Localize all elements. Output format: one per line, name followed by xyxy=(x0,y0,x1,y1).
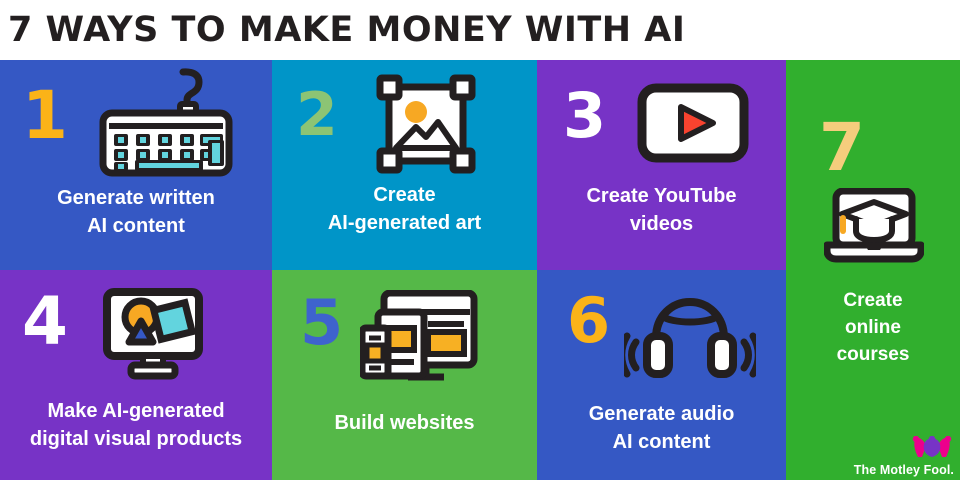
responsive-devices-icon xyxy=(360,290,480,387)
card-label-5: Build websites xyxy=(272,410,537,438)
laptop-graduation-cap-icon xyxy=(824,188,924,271)
infographic-root: 7 Ways to Make Money With AI 1 xyxy=(0,0,960,480)
card-number-4: 4 xyxy=(22,289,68,355)
card-2-create-ai-generated-art[interactable]: 2 Create AI-generated art xyxy=(272,60,537,270)
card-label-6: Generate audio AI content xyxy=(537,401,786,456)
keyboard-icon xyxy=(95,68,235,185)
card-3-create-youtube-videos[interactable]: 3 Create YouTube videos xyxy=(537,60,786,270)
video-play-icon xyxy=(637,83,749,168)
card-label-4: Make AI-generated digital visual product… xyxy=(0,398,272,453)
card-number-7: 7 xyxy=(819,115,865,181)
image-art-icon xyxy=(376,74,476,179)
card-label-3: Create YouTube videos xyxy=(537,183,786,238)
cards-grid: 1 xyxy=(0,60,960,480)
motley-fool-logo: The Motley Fool. xyxy=(854,436,954,477)
card-number-3: 3 xyxy=(563,85,606,147)
header: 7 Ways to Make Money With AI xyxy=(0,0,960,60)
motley-fool-wordmark: The Motley Fool. xyxy=(854,464,954,477)
card-6-generate-audio-ai-content[interactable]: 6 xyxy=(537,270,786,480)
jester-hat-icon xyxy=(910,436,954,463)
card-number-5: 5 xyxy=(300,292,343,354)
card-label-7: Create online courses xyxy=(786,288,960,369)
card-label-2: Create AI-generated art xyxy=(272,182,537,237)
card-4-make-ai-generated-digital-visual-products[interactable]: 4 Make AI-generated digital visual produ… xyxy=(0,270,272,480)
card-number-1: 1 xyxy=(22,83,68,149)
page-title: 7 Ways to Make Money With AI xyxy=(8,13,685,48)
card-7-create-online-courses[interactable]: 7 Create xyxy=(786,60,960,480)
card-5-build-websites[interactable]: 5 xyxy=(272,270,537,480)
monitor-shapes-icon xyxy=(103,288,203,385)
headphones-icon xyxy=(624,292,756,383)
card-1-generate-written-ai-content[interactable]: 1 xyxy=(0,60,272,270)
card-number-2: 2 xyxy=(296,85,338,145)
card-number-6: 6 xyxy=(567,290,610,352)
card-label-1: Generate written AI content xyxy=(0,185,272,240)
